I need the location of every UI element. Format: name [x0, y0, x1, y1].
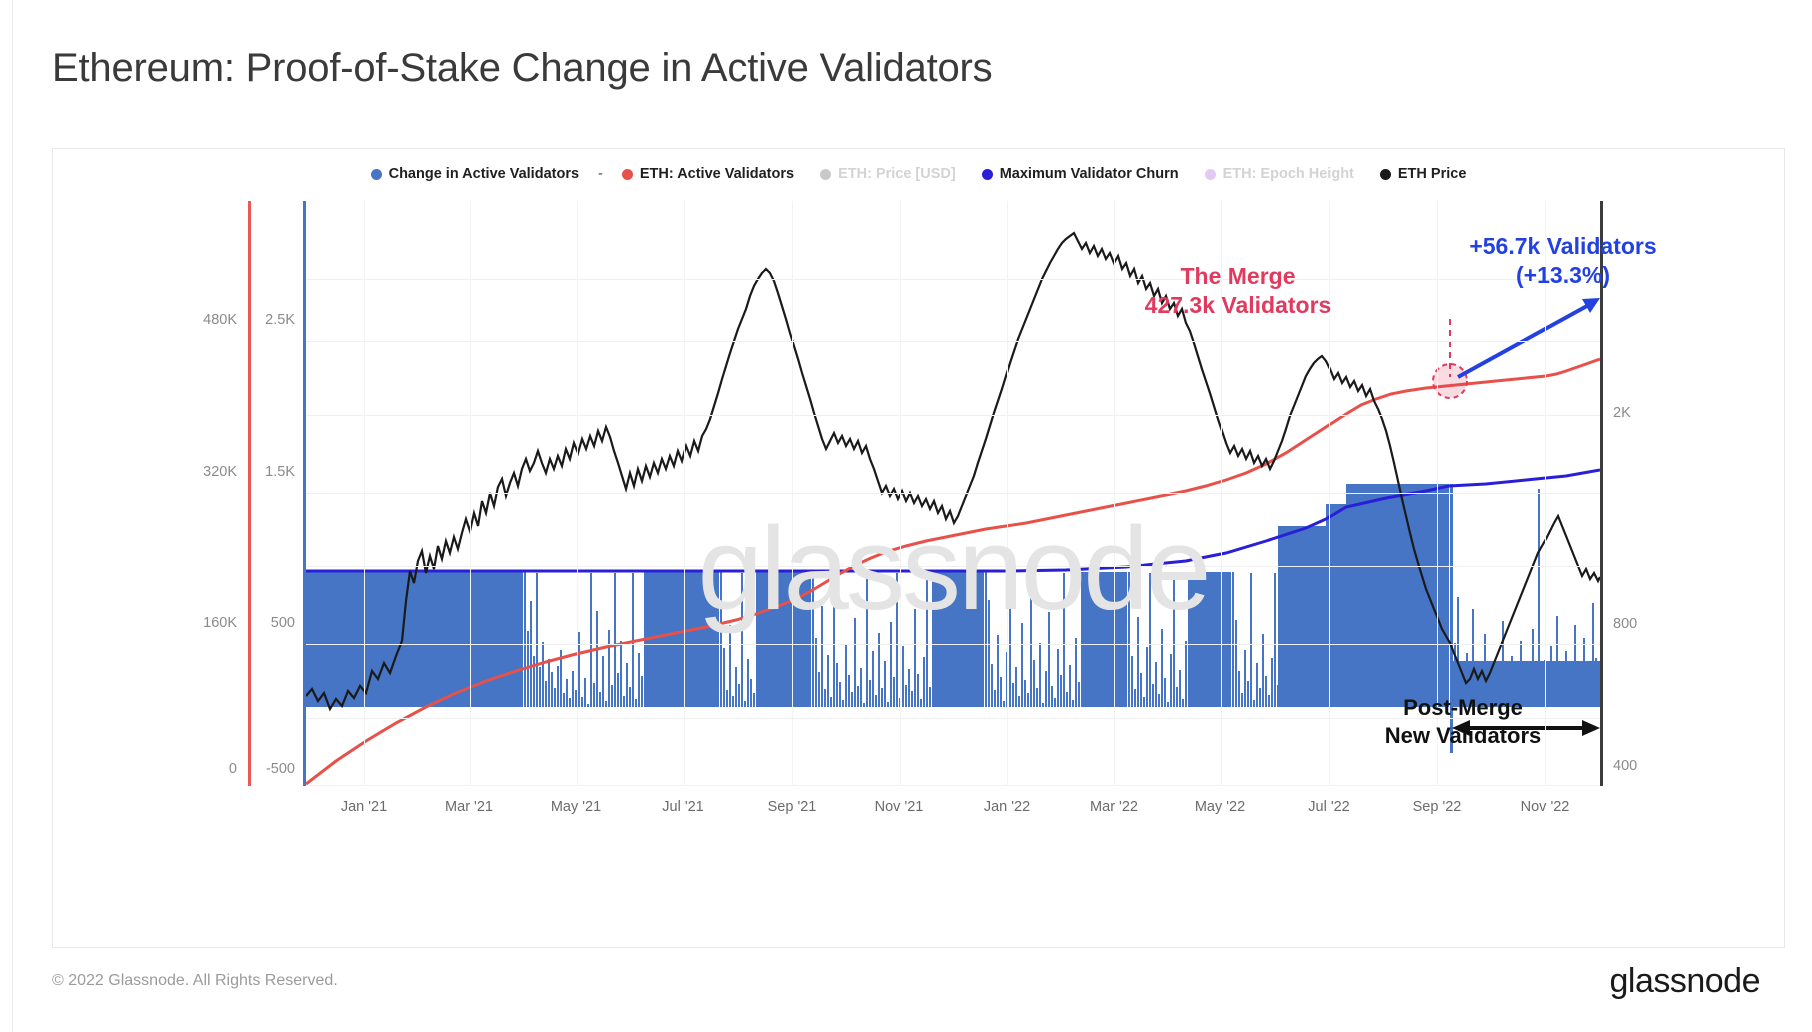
vertical-gridline	[1007, 201, 1008, 786]
ytick-active-validators-0: 0	[179, 761, 237, 777]
xtick-jan-21: Jan '21	[341, 799, 387, 815]
ytick-eth-price-2k: 2K	[1613, 405, 1631, 421]
post-merge-arrowhead-left	[1452, 720, 1470, 736]
xtick-jul-22: Jul '22	[1308, 799, 1349, 815]
xtick-may-21: May '21	[551, 799, 601, 815]
gridline	[306, 718, 1600, 719]
legend-dot-icon	[1380, 169, 1391, 180]
legend-dot-icon	[371, 169, 382, 180]
vertical-gridline	[1437, 201, 1438, 786]
validator-growth-arrow	[1458, 301, 1596, 377]
xtick-nov-21: Nov '21	[875, 799, 924, 815]
glassnode-logo: glassnode	[1609, 962, 1760, 1001]
gridline	[306, 415, 1600, 416]
chart-page: Ethereum: Proof-of-Stake Change in Activ…	[0, 0, 1812, 1032]
left-rail	[0, 0, 13, 1032]
gridline	[306, 341, 1600, 342]
vertical-gridline	[577, 201, 578, 786]
xtick-mar-22: Mar '22	[1090, 799, 1138, 815]
gridline	[306, 644, 1600, 645]
ytick-change-2500: 2.5K	[251, 312, 295, 328]
vertical-gridline	[1114, 201, 1115, 786]
xtick-sep-21: Sep '21	[768, 799, 817, 815]
ytick-eth-price-800: 800	[1613, 616, 1637, 632]
ytick-change-1500: 1.5K	[251, 464, 295, 480]
gridline	[306, 493, 1600, 494]
series-change-in-active-validators	[306, 484, 1600, 753]
xtick-may-22: May '22	[1195, 799, 1245, 815]
merge-marker-dot	[1433, 364, 1467, 398]
xtick-nov-22: Nov '22	[1521, 799, 1570, 815]
chart-card: Change in Active Validators - ETH: Activ…	[52, 148, 1785, 948]
vertical-gridline	[792, 201, 793, 786]
vertical-gridline	[1329, 201, 1330, 786]
ytick-active-validators-480k: 480K	[179, 312, 237, 328]
legend-dot-icon	[1205, 169, 1216, 180]
gridline	[306, 279, 1600, 280]
ytick-active-validators-160k: 160K	[179, 615, 237, 631]
xtick-mar-21: Mar '21	[445, 799, 493, 815]
vertical-gridline	[900, 201, 901, 786]
axis-line-active-validators	[248, 201, 251, 786]
legend-dot-icon	[622, 169, 633, 180]
ytick-active-validators-320k: 320K	[179, 464, 237, 480]
post-merge-arrowhead-right	[1582, 720, 1600, 736]
grid-and-series: glassnode	[306, 201, 1600, 786]
xtick-jan-22: Jan '22	[984, 799, 1030, 815]
vertical-gridline	[470, 201, 471, 786]
page-title: Ethereum: Proof-of-Stake Change in Activ…	[52, 46, 992, 91]
ytick-change-minus500: -500	[247, 761, 295, 777]
legend-dot-icon	[982, 169, 993, 180]
gridline	[306, 566, 1600, 567]
ytick-eth-price-400: 400	[1613, 758, 1637, 774]
xtick-sep-22: Sep '22	[1413, 799, 1462, 815]
vertical-gridline	[684, 201, 685, 786]
ytick-change-500: 500	[251, 615, 295, 631]
axis-line-eth-price	[1600, 201, 1603, 786]
vertical-gridline	[1221, 201, 1222, 786]
footer-copyright: © 2022 Glassnode. All Rights Reserved.	[52, 972, 338, 990]
vertical-gridline	[364, 201, 365, 786]
plot-area: 480K 320K 160K 0 2.5K 1.5K 500 -500 2K 8…	[179, 179, 1731, 919]
vertical-gridline	[1545, 201, 1546, 786]
xtick-jul-21: Jul '21	[662, 799, 703, 815]
legend-dot-icon	[820, 169, 831, 180]
gridline	[306, 785, 1600, 786]
